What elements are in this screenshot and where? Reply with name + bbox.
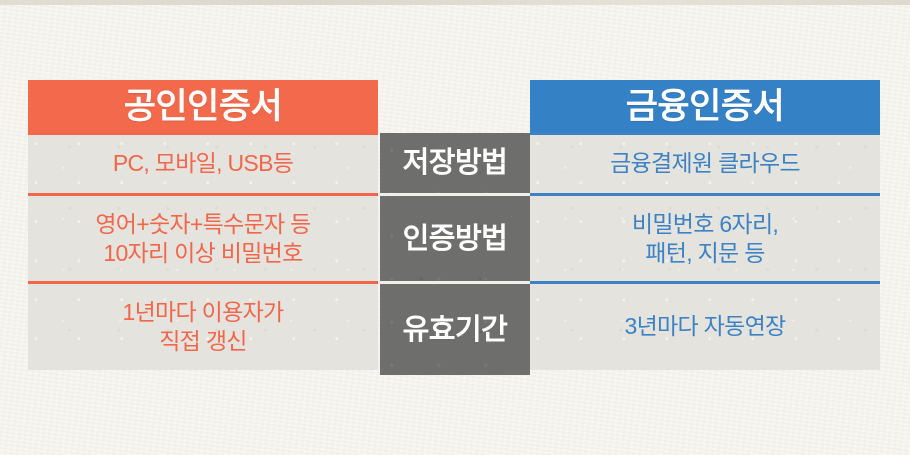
column-header-right-label: 금융인증서 — [626, 89, 785, 124]
column-body-right: 금융결제원 클라우드 비밀번호 6자리,패턴, 지문 등 3년마다 자동연장 — [530, 132, 880, 370]
table-cell-right-row1: 금융결제원 클라우드 — [530, 135, 880, 193]
row-label-authentication-method: 인증방법 — [380, 196, 530, 282]
table-cell-left-row2: 영어+숫자+특수문자 등10자리 이상 비밀번호 — [28, 196, 378, 282]
column-body-left: PC, 모바일, USB등 영어+숫자+특수문자 등10자리 이상 비밀번호 1… — [28, 132, 378, 370]
page-background: 공인인증서 금융인증서 PC, 모바일, USB등 영어+숫자+특수문자 등10… — [0, 0, 910, 455]
row-label-storage-method: 저장방법 — [380, 133, 530, 193]
column-header-left: 공인인증서 — [28, 80, 378, 132]
table-cell-left-row3: 1년마다 이용자가직접 갱신 — [28, 284, 378, 370]
column-header-left-label: 공인인증서 — [124, 89, 283, 124]
column-body-middle-labels: 저장방법 인증방법 유효기간 — [380, 133, 530, 375]
row-label-validity-period: 유효기간 — [380, 285, 530, 375]
table-cell-right-row2: 비밀번호 6자리,패턴, 지문 등 — [530, 196, 880, 282]
column-header-right: 금융인증서 — [530, 80, 880, 132]
top-edge-band — [0, 0, 910, 5]
table-cell-left-row1: PC, 모바일, USB등 — [28, 135, 378, 193]
table-cell-right-row3: 3년마다 자동연장 — [530, 284, 880, 370]
